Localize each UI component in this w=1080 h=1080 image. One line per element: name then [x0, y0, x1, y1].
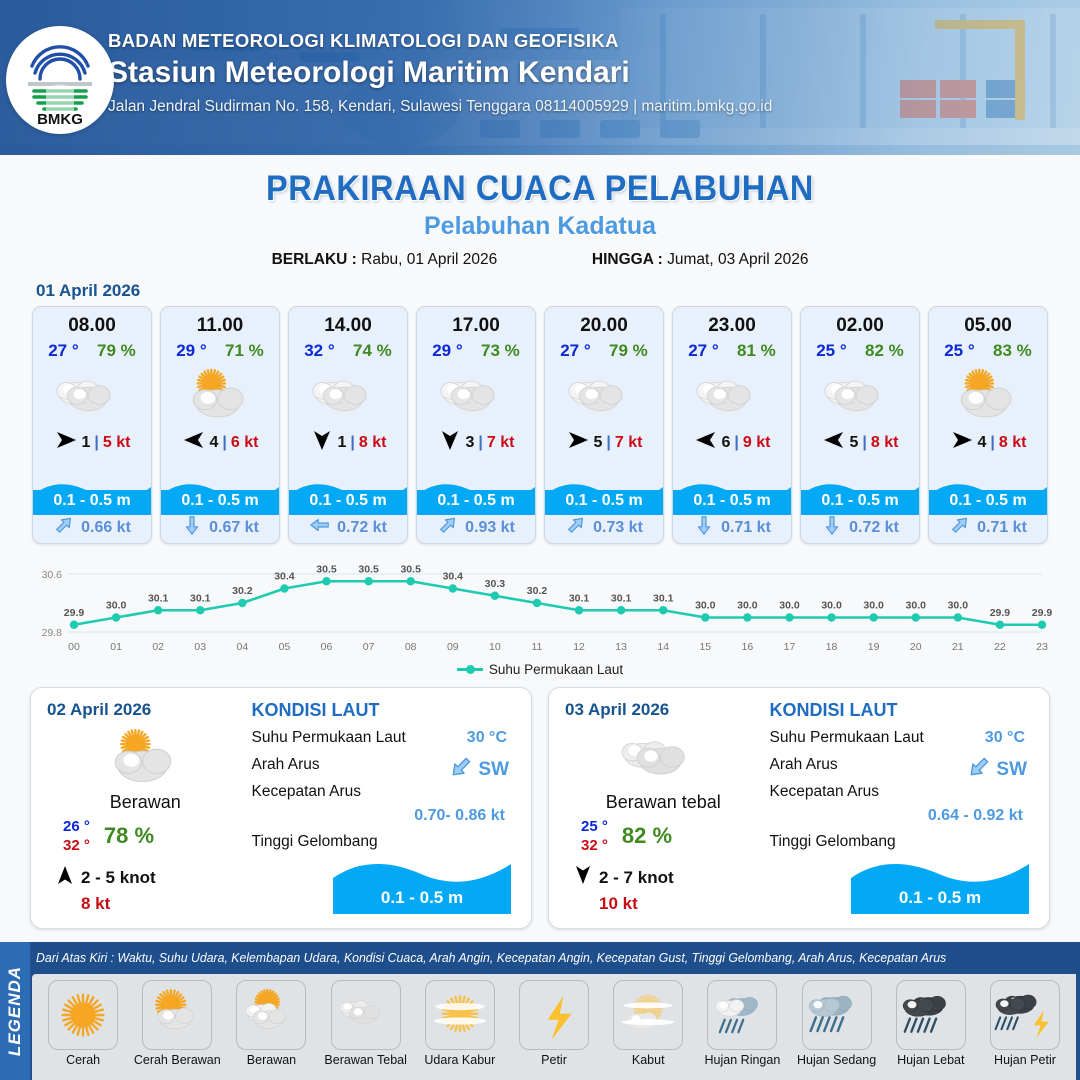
daily-weather-icon — [565, 724, 762, 784]
legend-item-label: Cerah — [66, 1053, 100, 1067]
card-wave-zone: 0.1 - 0.5 m 0.66 kt — [33, 481, 151, 543]
svg-text:22: 22 — [994, 641, 1006, 653]
svg-text:23: 23 — [1036, 641, 1048, 653]
svg-text:30.0: 30.0 — [106, 600, 127, 612]
chart-legend-marker-icon — [457, 668, 483, 671]
card-wave-height: 0.1 - 0.5 m — [673, 490, 791, 514]
legend-icon-hujan-lebat-icon — [896, 980, 966, 1050]
card-temperature: 29 ° — [176, 341, 206, 361]
card-wave-height: 0.1 - 0.5 m — [33, 490, 151, 514]
svg-text:13: 13 — [615, 641, 627, 653]
current-arrow — [693, 514, 715, 541]
card-weather-icon — [33, 363, 151, 423]
card-current-speed: 0.66 kt — [81, 519, 131, 537]
legend-item-label: Hujan Sedang — [797, 1053, 876, 1067]
daily-forecast-panels: 02 April 2026 Berawan 26 ° 32 ° 78 % 2 -… — [0, 677, 1080, 929]
legend-item: Berawan — [224, 980, 318, 1080]
card-time: 17.00 — [417, 315, 535, 337]
hourly-forecast-card: 02.00 25 ° 82 % 5 | 8 kt 0.1 - 0.5 m — [800, 306, 920, 544]
current-dir-value: SW — [478, 759, 509, 781]
current-direction-arrow-icon — [966, 754, 992, 780]
legend-caption: Dari Atas Kiri : Waktu, Suhu Udara, Kele… — [36, 950, 1032, 965]
card-wave-zone: 0.1 - 0.5 m 0.71 kt — [673, 481, 791, 543]
daily-gust: 10 kt — [565, 894, 762, 914]
card-wind: 5 | 8 kt — [801, 429, 919, 456]
card-wind-speed: 4 — [978, 434, 987, 452]
daily-date: 02 April 2026 — [47, 700, 244, 720]
wind-direction-arrow-icon — [310, 429, 334, 451]
daily-temp-max: 32 ° — [581, 836, 608, 855]
bmkg-logo-text: BMKG — [37, 111, 83, 128]
daily-forecast-panel: 02 April 2026 Berawan 26 ° 32 ° 78 % 2 -… — [30, 687, 532, 929]
daily-temp-hum: 25 ° 32 ° 82 % — [565, 817, 762, 855]
sst-chart-svg: 30.629.829.90030.00130.10230.10330.20430… — [26, 558, 1054, 658]
legend-item: Hujan Petir — [978, 980, 1072, 1080]
card-temperature: 27 ° — [48, 341, 78, 361]
wave-label: Tinggi Gelombang — [252, 833, 378, 850]
svg-text:30.0: 30.0 — [821, 600, 842, 612]
legend-icon-cerah-berawan-icon — [142, 980, 212, 1050]
sea-condition-heading: KONDISI LAUT — [770, 700, 1033, 721]
current-dir-label: Arah Arus — [770, 756, 838, 773]
hourly-forecast-card: 17.00 29 ° 73 % 3 | 7 kt 0.1 - 0.5 m — [416, 306, 536, 544]
wind-separator: | — [734, 434, 738, 452]
daily-humidity: 82 % — [622, 823, 672, 849]
legend-vertical-label: LEGENDA — [5, 966, 25, 1056]
card-humidity: 74 % — [353, 341, 392, 361]
current-speed-label: Kecepatan Arus — [770, 783, 879, 800]
valid-until-label: HINGGA : — [592, 251, 663, 268]
chart-legend-label: Suhu Permukaan Laut — [489, 662, 623, 677]
card-current: 0.93 kt — [417, 514, 535, 541]
svg-text:30.1: 30.1 — [569, 592, 590, 604]
card-current-speed: 0.72 kt — [849, 519, 899, 537]
card-current-speed: 0.73 kt — [593, 519, 643, 537]
legend-item: Udara Kabur — [413, 980, 507, 1080]
svg-text:10: 10 — [489, 641, 501, 653]
legend-item: Cerah Berawan — [130, 980, 224, 1080]
legend-item: Hujan Sedang — [790, 980, 884, 1080]
svg-text:17: 17 — [784, 641, 796, 653]
card-gust: 7 kt — [615, 434, 643, 452]
svg-text:08: 08 — [405, 641, 417, 653]
hourly-forecast-card: 05.00 25 ° 83 % 4 | 8 kt 0.1 - 0.5 m — [928, 306, 1048, 544]
daily-wave-value: 0.1 - 0.5 m — [333, 884, 511, 914]
card-temperature: 27 ° — [560, 341, 590, 361]
card-time: 20.00 — [545, 315, 663, 337]
wind-direction-arrow-icon — [182, 429, 206, 451]
svg-text:29.9: 29.9 — [1032, 607, 1053, 619]
current-arrow — [949, 514, 971, 541]
current-direction-arrow-icon — [181, 514, 203, 536]
svg-text:06: 06 — [321, 641, 333, 653]
card-wave-zone: 0.1 - 0.5 m 0.73 kt — [545, 481, 663, 543]
legend-section: LEGENDA Dari Atas Kiri : Waktu, Suhu Uda… — [0, 942, 1080, 1080]
valid-until-value: Jumat, 03 April 2026 — [667, 251, 808, 268]
legend-item-label: Cerah Berawan — [134, 1053, 221, 1067]
current-direction-arrow-icon — [821, 514, 843, 536]
wind-arrow — [310, 429, 334, 456]
wind-arrow — [950, 429, 974, 456]
svg-text:16: 16 — [742, 641, 754, 653]
validity-period: BERLAKU : Rabu, 01 April 2026 HINGGA : J… — [0, 251, 1080, 269]
title-section: PRAKIRAAN CUACA PELABUHAN Pelabuhan Kada… — [0, 155, 1080, 269]
svg-text:21: 21 — [952, 641, 964, 653]
svg-text:30.1: 30.1 — [190, 592, 211, 604]
card-humidity: 81 % — [737, 341, 776, 361]
svg-text:30.0: 30.0 — [695, 600, 716, 612]
svg-text:03: 03 — [194, 641, 206, 653]
sst-label: Suhu Permukaan Laut — [252, 729, 406, 746]
current-dir-row: Arah Arus SW — [252, 756, 515, 778]
svg-text:02: 02 — [152, 641, 164, 653]
hourly-forecast-row: 08.00 27 ° 79 % 1 | 5 kt 0.1 - 0.5 m — [0, 306, 1080, 544]
card-current: 0.66 kt — [33, 514, 151, 541]
current-dir-arrow — [966, 754, 992, 786]
current-arrow — [181, 514, 203, 541]
current-speed-value: 0.64 - 0.92 kt — [770, 807, 1033, 825]
card-wind: 5 | 7 kt — [545, 429, 663, 456]
wind-separator: | — [478, 434, 482, 452]
card-temperature: 25 ° — [944, 341, 974, 361]
current-arrow — [53, 514, 75, 541]
current-arrow — [821, 514, 843, 541]
current-direction-arrow-icon — [693, 514, 715, 536]
card-time: 08.00 — [33, 315, 151, 337]
daily-humidity: 78 % — [104, 823, 154, 849]
card-gust: 8 kt — [999, 434, 1027, 452]
daily-wind: 2 - 7 knot — [565, 865, 762, 890]
legend-icon-hujan-sedang-icon — [802, 980, 872, 1050]
card-weather-icon — [417, 363, 535, 423]
daily-wave-graphic: 0.1 - 0.5 m — [333, 852, 511, 914]
wind-arrow — [438, 429, 462, 456]
card-time: 14.00 — [289, 315, 407, 337]
svg-text:30.6: 30.6 — [42, 569, 63, 581]
current-dir-value-group: SW — [448, 754, 509, 786]
page-header: BMKG BADAN METEOROLOGI KLIMATOLOGI DAN G… — [0, 0, 1080, 155]
card-wind-speed: 1 — [338, 434, 347, 452]
card-gust: 5 kt — [103, 434, 131, 452]
wind-direction-arrow-icon — [566, 429, 590, 451]
daily-condition: Berawan tebal — [565, 792, 762, 813]
card-humidity: 83 % — [993, 341, 1032, 361]
hourly-forecast-card: 08.00 27 ° 79 % 1 | 5 kt 0.1 - 0.5 m — [32, 306, 152, 544]
svg-text:30.5: 30.5 — [358, 563, 379, 575]
card-wave-zone: 0.1 - 0.5 m 0.72 kt — [289, 481, 407, 543]
daily-temp-min: 25 ° — [581, 817, 608, 836]
card-wind: 1 | 8 kt — [289, 429, 407, 456]
svg-text:19: 19 — [868, 641, 880, 653]
svg-text:30.5: 30.5 — [400, 563, 421, 575]
legend-item: Hujan Lebat — [884, 980, 978, 1080]
card-wave-height: 0.1 - 0.5 m — [929, 490, 1047, 514]
wave-label: Tinggi Gelombang — [770, 833, 896, 850]
daily-panel-right: KONDISI LAUT Suhu Permukaan Laut 30 °C A… — [762, 700, 1033, 916]
sst-value: 30 °C — [467, 729, 507, 747]
current-direction-arrow-icon — [53, 514, 75, 536]
legend-item: Petir — [507, 980, 601, 1080]
svg-text:07: 07 — [363, 641, 375, 653]
day1-date: 01 April 2026 — [36, 281, 1080, 301]
wind-direction-arrow-icon — [55, 865, 75, 885]
card-weather-icon — [545, 363, 663, 423]
current-speed-label: Kecepatan Arus — [252, 783, 361, 800]
legend-icon-petir-icon — [519, 980, 589, 1050]
card-wave-zone: 0.1 - 0.5 m 0.67 kt — [161, 481, 279, 543]
svg-text:20: 20 — [910, 641, 922, 653]
svg-text:30.2: 30.2 — [232, 585, 253, 597]
svg-text:29.9: 29.9 — [64, 607, 85, 619]
wind-arrow — [54, 429, 78, 456]
wind-direction-arrow-icon — [438, 429, 462, 451]
agency-name: BADAN METEOROLOGI KLIMATOLOGI DAN GEOFIS… — [108, 30, 772, 52]
current-direction-arrow-icon — [448, 754, 474, 780]
legend-icon-udara-kabur-icon — [425, 980, 495, 1050]
current-direction-arrow-icon — [437, 514, 459, 536]
sea-condition-heading: KONDISI LAUT — [252, 700, 515, 721]
bmkg-logo: BMKG — [6, 26, 114, 134]
card-wave-height: 0.1 - 0.5 m — [417, 490, 535, 514]
card-current: 0.72 kt — [801, 514, 919, 541]
legend-icon-cerah-icon — [48, 980, 118, 1050]
legend-item-label: Hujan Ringan — [705, 1053, 781, 1067]
card-weather-icon — [929, 363, 1047, 423]
svg-text:30.1: 30.1 — [148, 592, 169, 604]
card-wave-height: 0.1 - 0.5 m — [161, 490, 279, 514]
card-gust: 6 kt — [231, 434, 259, 452]
daily-panel-left: 02 April 2026 Berawan 26 ° 32 ° 78 % 2 -… — [47, 700, 244, 916]
wind-direction-arrow-icon — [54, 429, 78, 451]
legend-icon-berawan-sun-icon — [236, 980, 306, 1050]
daily-temp-hum: 26 ° 32 ° 78 % — [47, 817, 244, 855]
sst-value: 30 °C — [985, 729, 1025, 747]
svg-text:12: 12 — [573, 641, 585, 653]
svg-text:14: 14 — [657, 641, 669, 653]
card-wave-zone: 0.1 - 0.5 m 0.93 kt — [417, 481, 535, 543]
current-direction-arrow-icon — [949, 514, 971, 536]
bmkg-logo-mark: BMKG — [12, 32, 108, 128]
legend-item-label: Berawan Tebal — [324, 1053, 406, 1067]
svg-text:30.0: 30.0 — [863, 600, 884, 612]
daily-wind: 2 - 5 knot — [47, 865, 244, 890]
card-current-speed: 0.72 kt — [337, 519, 387, 537]
legend-icon-hujan-ringan-icon — [707, 980, 777, 1050]
daily-wind-range: 2 - 7 knot — [599, 868, 674, 888]
daily-temp-min: 26 ° — [63, 817, 90, 836]
daily-panel-left: 03 April 2026 Berawan tebal 25 ° 32 ° 82… — [565, 700, 762, 916]
legend-item: Cerah — [36, 980, 130, 1080]
daily-wind-range: 2 - 5 knot — [81, 868, 156, 888]
card-humidity: 71 % — [225, 341, 264, 361]
card-temperature: 25 ° — [816, 341, 846, 361]
page-title: PRAKIRAAN CUACA PELABUHAN — [38, 169, 1042, 209]
svg-text:30.0: 30.0 — [906, 600, 927, 612]
station-name: Stasiun Meteorologi Maritim Kendari — [108, 56, 772, 90]
card-humidity: 79 % — [97, 341, 136, 361]
svg-text:30.1: 30.1 — [653, 592, 674, 604]
hourly-forecast-card: 14.00 32 ° 74 % 1 | 8 kt 0.1 - 0.5 m — [288, 306, 408, 544]
card-wind: 4 | 6 kt — [161, 429, 279, 456]
daily-temps: 26 ° 32 ° — [63, 817, 90, 855]
card-weather-icon — [673, 363, 791, 423]
wind-direction-arrow-icon — [950, 429, 974, 451]
current-dir-value: SW — [996, 759, 1027, 781]
wind-separator: | — [350, 434, 354, 452]
current-dir-row: Arah Arus SW — [770, 756, 1033, 778]
card-current-speed: 0.71 kt — [977, 519, 1027, 537]
svg-text:29.8: 29.8 — [42, 627, 63, 639]
daily-wind-arrow — [55, 865, 75, 890]
wind-arrow — [182, 429, 206, 456]
current-speed-row: Kecepatan Arus — [252, 783, 515, 805]
daily-date: 03 April 2026 — [565, 700, 762, 720]
legend-item-label: Petir — [541, 1053, 567, 1067]
sst-row: Suhu Permukaan Laut 30 °C — [770, 729, 1033, 751]
svg-text:18: 18 — [826, 641, 838, 653]
card-humidity: 73 % — [481, 341, 520, 361]
card-wind-speed: 5 — [594, 434, 603, 452]
card-current-speed: 0.71 kt — [721, 519, 771, 537]
card-gust: 7 kt — [487, 434, 515, 452]
daily-forecast-panel: 03 April 2026 Berawan tebal 25 ° 32 ° 82… — [548, 687, 1050, 929]
card-time: 05.00 — [929, 315, 1047, 337]
wind-separator: | — [606, 434, 610, 452]
port-name: Pelabuhan Kadatua — [0, 212, 1080, 241]
svg-text:30.4: 30.4 — [443, 571, 464, 583]
legend-item-label: Udara Kabur — [424, 1053, 495, 1067]
legend-item: Berawan Tebal — [319, 980, 413, 1080]
wind-arrow — [694, 429, 718, 456]
legend-item: Hujan Ringan — [695, 980, 789, 1080]
hourly-forecast-card: 11.00 29 ° 71 % 4 | 6 kt 0.1 - 0.5 m — [160, 306, 280, 544]
wind-arrow — [566, 429, 590, 456]
current-dir-value-group: SW — [966, 754, 1027, 786]
svg-text:30.3: 30.3 — [485, 578, 506, 590]
daily-temps: 25 ° 32 ° — [581, 817, 608, 855]
daily-weather-icon — [47, 724, 244, 784]
svg-text:00: 00 — [68, 641, 80, 653]
card-gust: 9 kt — [743, 434, 771, 452]
station-address: Jalan Jendral Sudirman No. 158, Kendari,… — [108, 98, 772, 116]
card-current-speed: 0.93 kt — [465, 519, 515, 537]
card-weather-icon — [161, 363, 279, 423]
svg-text:11: 11 — [532, 641, 543, 653]
sst-label: Suhu Permukaan Laut — [770, 729, 924, 746]
svg-text:01: 01 — [110, 641, 122, 653]
card-gust: 8 kt — [359, 434, 387, 452]
card-wind: 3 | 7 kt — [417, 429, 535, 456]
svg-text:04: 04 — [237, 641, 249, 653]
card-wind: 1 | 5 kt — [33, 429, 151, 456]
valid-from-value: Rabu, 01 April 2026 — [361, 251, 497, 268]
hourly-forecast-card: 23.00 27 ° 81 % 6 | 9 kt 0.1 - 0.5 m — [672, 306, 792, 544]
card-wind-speed: 4 — [210, 434, 219, 452]
card-humidity: 82 % — [865, 341, 904, 361]
svg-text:29.9: 29.9 — [990, 607, 1011, 619]
wind-separator: | — [862, 434, 866, 452]
current-direction-arrow-icon — [565, 514, 587, 536]
current-arrow — [565, 514, 587, 541]
card-current-speed: 0.67 kt — [209, 519, 259, 537]
hourly-forecast-card: 20.00 27 ° 79 % 5 | 7 kt 0.1 - 0.5 m — [544, 306, 664, 544]
legend-icon-hujan-petir-icon — [990, 980, 1060, 1050]
card-current: 0.72 kt — [289, 514, 407, 541]
wind-separator: | — [990, 434, 994, 452]
card-temperature: 27 ° — [688, 341, 718, 361]
svg-text:15: 15 — [699, 641, 711, 653]
card-wind: 6 | 9 kt — [673, 429, 791, 456]
legend-icon-row: Cerah Cerah Berawan Berawan Berawan Teba… — [32, 974, 1076, 1080]
chart-legend: Suhu Permukaan Laut — [0, 662, 1080, 677]
card-wind-speed: 6 — [722, 434, 731, 452]
card-current: 0.71 kt — [929, 514, 1047, 541]
current-arrow — [437, 514, 459, 541]
card-time: 11.00 — [161, 315, 279, 337]
wind-arrow — [822, 429, 846, 456]
card-wind: 4 | 8 kt — [929, 429, 1047, 456]
card-wave-zone: 0.1 - 0.5 m 0.72 kt — [801, 481, 919, 543]
legend-item-label: Kabut — [632, 1053, 665, 1067]
legend-vertical-tab: LEGENDA — [0, 942, 30, 1080]
svg-text:30.1: 30.1 — [611, 592, 632, 604]
card-current: 0.71 kt — [673, 514, 791, 541]
card-wind-speed: 5 — [850, 434, 859, 452]
svg-text:30.0: 30.0 — [779, 600, 800, 612]
card-weather-icon — [289, 363, 407, 423]
card-wind-speed: 3 — [466, 434, 475, 452]
svg-text:09: 09 — [447, 641, 459, 653]
current-speed-row: Kecepatan Arus — [770, 783, 1033, 805]
daily-wave-value: 0.1 - 0.5 m — [851, 884, 1029, 914]
daily-gust: 8 kt — [47, 894, 244, 914]
card-time: 02.00 — [801, 315, 919, 337]
sst-row: Suhu Permukaan Laut 30 °C — [252, 729, 515, 751]
current-dir-arrow — [448, 754, 474, 786]
daily-condition: Berawan — [47, 792, 244, 813]
card-current: 0.67 kt — [161, 514, 279, 541]
sst-chart: 30.629.829.90030.00130.10230.10330.20430… — [26, 558, 1054, 658]
legend-item-label: Hujan Lebat — [897, 1053, 964, 1067]
wind-direction-arrow-icon — [822, 429, 846, 451]
card-wave-height: 0.1 - 0.5 m — [289, 490, 407, 514]
daily-temp-max: 32 ° — [63, 836, 90, 855]
card-temperature: 32 ° — [304, 341, 334, 361]
card-humidity: 79 % — [609, 341, 648, 361]
legend-icon-kabut-icon — [613, 980, 683, 1050]
current-direction-arrow-icon — [309, 514, 331, 536]
current-dir-label: Arah Arus — [252, 756, 320, 773]
svg-text:30.2: 30.2 — [527, 585, 548, 597]
legend-item-label: Berawan — [247, 1053, 296, 1067]
current-arrow — [309, 514, 331, 541]
card-temperature: 29 ° — [432, 341, 462, 361]
svg-text:30.5: 30.5 — [316, 563, 337, 575]
card-weather-icon — [801, 363, 919, 423]
card-wave-zone: 0.1 - 0.5 m 0.71 kt — [929, 481, 1047, 543]
legend-item-label: Hujan Petir — [994, 1053, 1056, 1067]
legend-item: Kabut — [601, 980, 695, 1080]
card-time: 23.00 — [673, 315, 791, 337]
card-current: 0.73 kt — [545, 514, 663, 541]
svg-text:30.0: 30.0 — [948, 600, 969, 612]
card-wave-height: 0.1 - 0.5 m — [545, 490, 663, 514]
wind-separator: | — [222, 434, 226, 452]
wind-direction-arrow-icon — [694, 429, 718, 451]
wind-separator: | — [94, 434, 98, 452]
svg-text:30.0: 30.0 — [737, 600, 758, 612]
wind-direction-arrow-icon — [573, 865, 593, 885]
